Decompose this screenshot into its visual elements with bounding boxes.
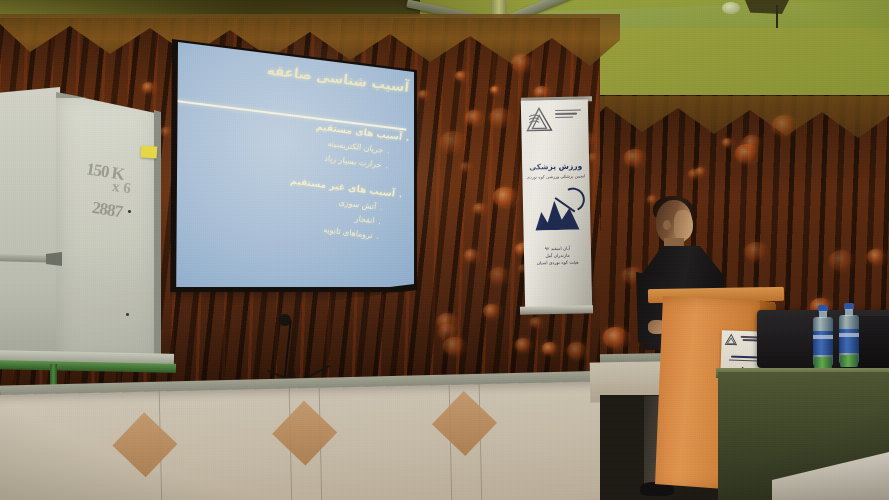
- bullet-marker: .: [387, 148, 390, 156]
- curtain-rose: [829, 250, 853, 270]
- slide-body: .آسیب های مستقیم .جریان الکتریسیته .حرار…: [197, 109, 410, 249]
- curtain-rose: [464, 249, 479, 262]
- bullet-marker: .: [380, 204, 383, 212]
- curtain-rose: [745, 242, 767, 261]
- curtain-rose: [465, 110, 483, 126]
- tile-accent: [272, 401, 337, 466]
- curtain-rose: [489, 267, 509, 284]
- water-bottle: [839, 303, 859, 365]
- projection-screen: آسیب شناسی صاعقه .آسیب های مستقیم .جریان…: [172, 36, 416, 287]
- stage-front-tiles: [0, 381, 631, 500]
- curtain-rose: [530, 317, 542, 327]
- slide-bullet-text: حرارت بسیار زیاد: [324, 154, 382, 170]
- water-bottle: [813, 305, 833, 367]
- curtain-rose: [695, 167, 706, 176]
- whiteboard-writing: x 6: [111, 179, 132, 198]
- bottle-base: [840, 355, 858, 367]
- curtain-rose: [440, 131, 465, 152]
- curtain-rose: [160, 127, 171, 136]
- bullet-marker: .: [376, 233, 379, 241]
- whiteboard-side-panel: [0, 87, 61, 365]
- whiteboard: [56, 92, 160, 370]
- curtain-rose: [722, 138, 733, 147]
- curtain-rose: [742, 135, 761, 151]
- curtain-rose: [515, 338, 531, 351]
- curtain-rose: [603, 327, 627, 348]
- lecture-hall-photo: آسیب شناسی صاعقه .آسیب های مستقیم .جریان…: [0, 0, 889, 500]
- curtain-rose: [567, 342, 587, 359]
- slide-bullet-text: تروماهای ثانویه: [323, 225, 373, 240]
- presenter-face: [674, 210, 693, 240]
- curtain-rose: [438, 324, 458, 341]
- tile-accent: [112, 412, 177, 477]
- curtain-rose: [542, 342, 557, 355]
- sticky-note: [141, 145, 158, 158]
- bullet-marker: .: [385, 162, 388, 170]
- curtain-rose: [418, 90, 429, 99]
- curtain-rose: [493, 187, 516, 207]
- tile-accent: [432, 391, 497, 456]
- curtain-rose: [455, 71, 466, 81]
- slide-bullet-text: آتش سوزی: [338, 198, 376, 212]
- slide-bullet-text: جریان الکتریسیته: [327, 139, 384, 155]
- bottle-label-stripe: [813, 335, 833, 339]
- curtain-rose: [624, 149, 645, 167]
- curtain-rose: [772, 115, 796, 135]
- whiteboard-tray-end: [46, 252, 62, 266]
- presenter-ear: [663, 220, 671, 230]
- bullet-marker: .: [378, 218, 381, 226]
- curtain-rose: [473, 203, 486, 214]
- whiteboard-mark: [126, 313, 129, 316]
- mountain-triangle-logo: [724, 333, 737, 345]
- bottle-label-stripe: [839, 333, 859, 337]
- banner-glare: [521, 99, 592, 310]
- ceiling-light-spot: [722, 2, 740, 14]
- rollup-banner: ورزش پزشکی انجمن پزشکی ورزشی کوه نوردی آ…: [521, 99, 592, 310]
- whiteboard-mark: [128, 210, 131, 213]
- curtain-rose: [142, 82, 155, 93]
- banner-base: [520, 305, 593, 315]
- slide-bullet-text: انفجار: [354, 214, 375, 225]
